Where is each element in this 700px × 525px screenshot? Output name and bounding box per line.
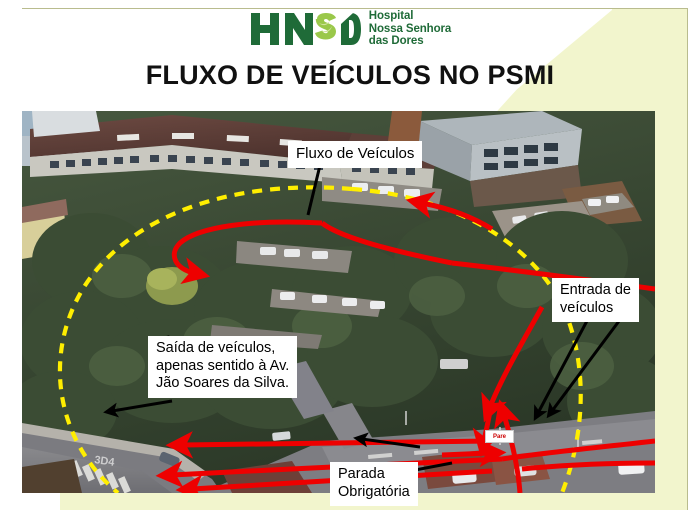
hospital-logo: Hospital Nossa Senhora das Dores [249, 9, 451, 49]
pare-sign-label: Pare [485, 430, 514, 443]
callout-entrada-de-veiculos: Entrada de veículos [552, 278, 639, 322]
callout-parada-obrigatoria: Parada Obrigatória [330, 462, 418, 506]
hnsd-logo-icon [249, 9, 361, 49]
flow-arrow-into-stop [442, 453, 490, 455]
callout-fluxo-de-veiculos: Fluxo de Veículos [288, 141, 422, 168]
callout-saida-de-veiculos: Saída de veículos, apenas sentido à Av. … [148, 336, 297, 398]
slide-canvas: Hospital Nossa Senhora das Dores FLUXO D… [0, 0, 700, 525]
page-title: FLUXO DE VEÍCULOS NO PSMI [0, 60, 700, 91]
logo-wordmark: Hospital Nossa Senhora das Dores [369, 10, 451, 48]
header-divider [22, 8, 688, 9]
